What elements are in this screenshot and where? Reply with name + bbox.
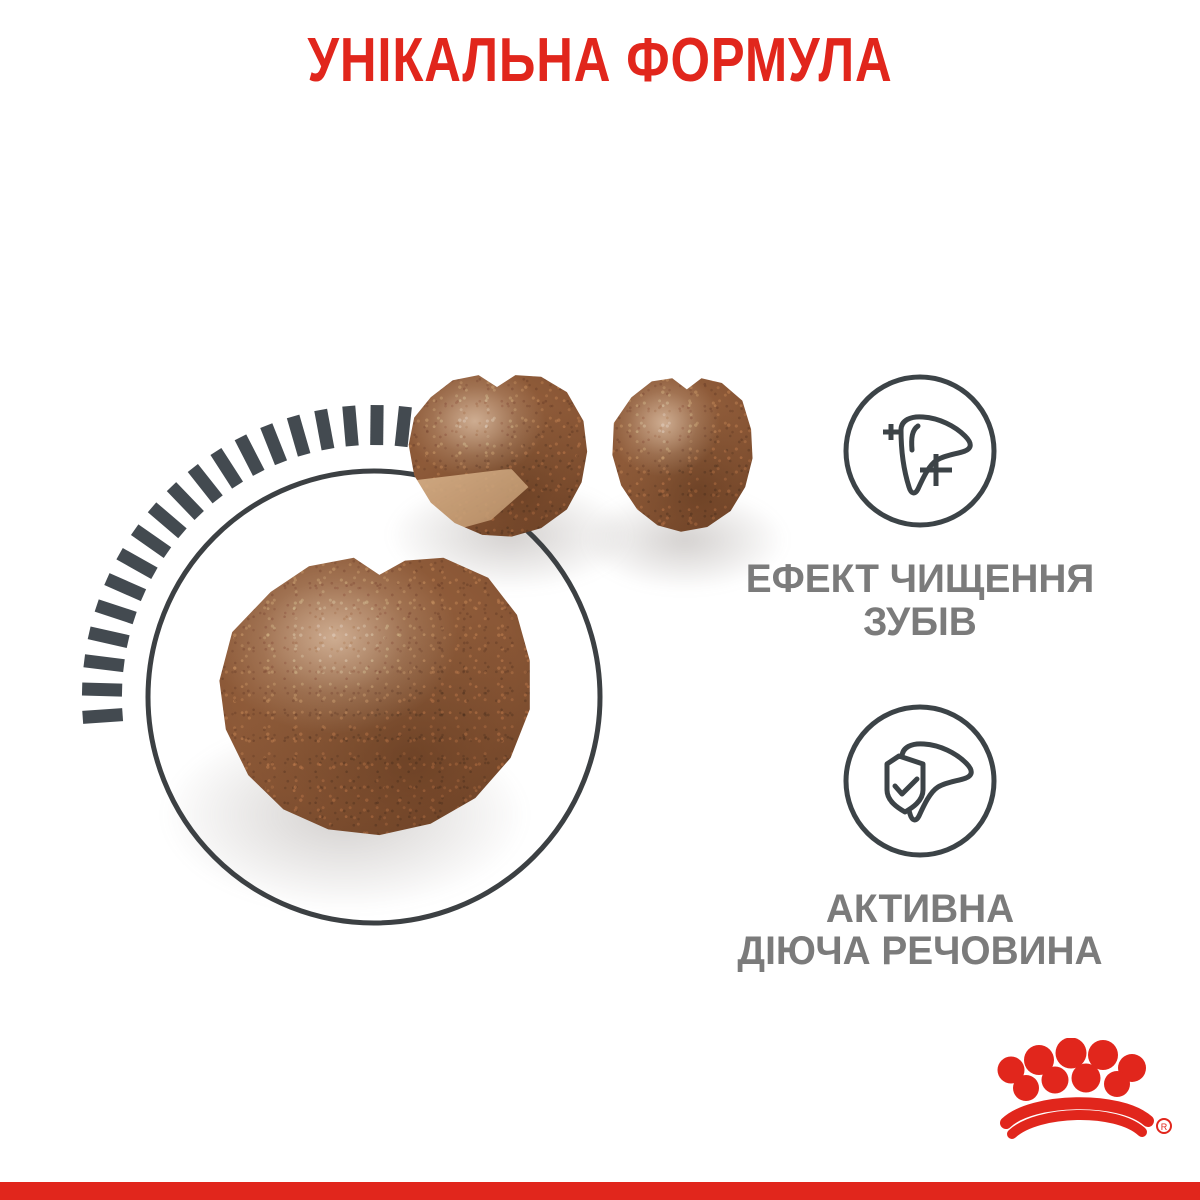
- tick-mark: [349, 406, 352, 446]
- tick-mark: [135, 530, 168, 553]
- benefit-label: ЕФЕКТ ЧИЩЕННЯ ЗУБІВ: [648, 558, 1191, 644]
- page-root: УНІКАЛЬНА ФОРМУЛА: [0, 0, 1200, 1200]
- tick-mark: [152, 507, 182, 533]
- shield-check-tooth-icon: [839, 700, 1001, 862]
- benefits-list: ЕФЕКТ ЧИЩЕННЯ ЗУБІВ АКТИВНА ДІЮЧА РЕЧОВИ…: [640, 370, 1200, 995]
- royal-canin-crown-logo: R: [992, 1038, 1182, 1142]
- tick-mark: [240, 437, 258, 473]
- benefit-label: АКТИВНА ДІЮЧА РЕЧОВИНА: [648, 888, 1191, 974]
- tick-mark: [401, 407, 405, 447]
- footer-red-bar: [0, 1182, 1200, 1200]
- tick-mark: [84, 661, 124, 666]
- tooth-plus-icon: [839, 370, 1001, 532]
- registered-mark: R: [1161, 1122, 1168, 1132]
- tick-mark: [171, 487, 199, 516]
- tick-mark: [293, 416, 304, 454]
- tick-mark: [97, 606, 135, 619]
- benefit-item-tooth-cleaning: ЕФЕКТ ЧИЩЕННЯ ЗУБІВ: [640, 370, 1200, 644]
- tick-mark: [216, 452, 238, 486]
- tick-mark: [193, 468, 218, 499]
- tick-mark: [89, 633, 128, 642]
- tick-mark: [120, 554, 155, 574]
- page-title: УНІКАЛЬНА ФОРМУЛА: [108, 30, 1092, 92]
- tick-mark: [107, 579, 144, 595]
- tick-mark: [82, 689, 122, 690]
- kibble-magnifier-illustration: [0, 330, 660, 980]
- tick-mark: [266, 426, 281, 463]
- benefit-item-active-substance: АКТИВНА ДІЮЧА РЕЧОВИНА: [640, 700, 1200, 974]
- tick-mark: [321, 410, 328, 449]
- tick-mark: [83, 715, 123, 718]
